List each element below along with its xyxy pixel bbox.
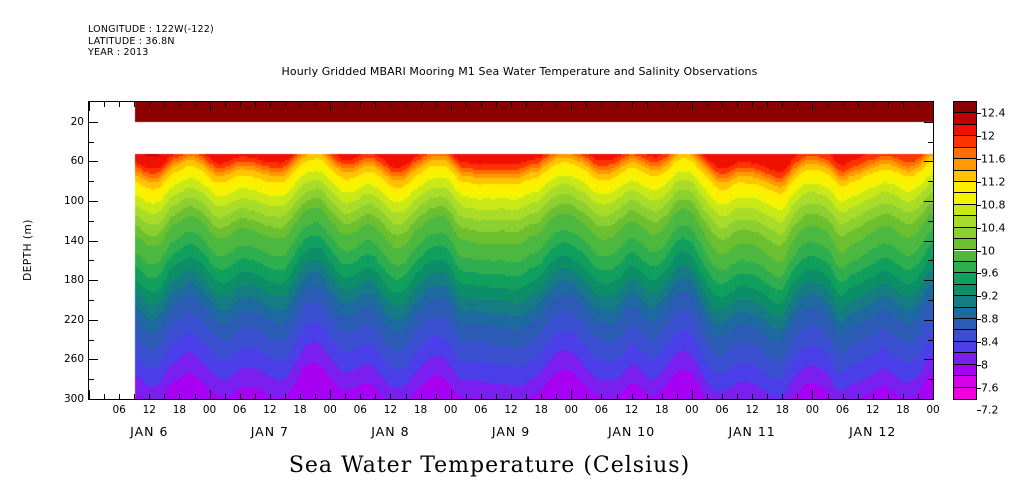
x-axis-day-label: JAN 10 — [608, 424, 655, 439]
x-axis-day-label: JAN 8 — [371, 424, 409, 439]
x-axis-tick-bottom — [767, 394, 768, 399]
colorbar-band — [954, 330, 976, 341]
x-axis-tick-top — [390, 102, 391, 107]
colorbar-band — [954, 239, 976, 250]
x-axis-tick-top — [707, 102, 708, 107]
x-axis-tick-bottom — [195, 394, 196, 399]
x-axis-hour-label: 18 — [414, 404, 427, 416]
x-axis-tick-bottom — [330, 390, 331, 399]
x-axis-hour-label: 06 — [354, 404, 367, 416]
colorbar-tick — [977, 113, 981, 114]
x-axis-tick-bottom — [722, 394, 723, 399]
colorbar-band — [954, 365, 976, 376]
colorbar-band — [954, 193, 976, 204]
x-axis-tick-bottom — [149, 394, 150, 399]
x-axis-tick-bottom — [828, 394, 829, 399]
x-axis-tick-top — [737, 102, 738, 107]
x-axis-tick-top — [692, 102, 693, 111]
colorbar-label: 11.2 — [981, 175, 1006, 188]
x-axis-hour-label: 18 — [896, 404, 909, 416]
x-axis-tick-bottom — [421, 394, 422, 399]
x-axis-tick-top — [496, 102, 497, 107]
y-axis-tick-left — [89, 399, 98, 400]
x-axis-tick-top — [556, 102, 557, 107]
year-text: YEAR : 2013 — [88, 47, 214, 59]
x-axis-hour-label: 12 — [384, 404, 397, 416]
colorbar-tick — [977, 410, 981, 411]
y-axis-tick-right — [924, 320, 933, 321]
y-axis-tick-right — [924, 122, 933, 123]
x-axis-tick-bottom — [662, 394, 663, 399]
x-axis-tick-bottom — [255, 394, 256, 399]
y-axis-tick-right — [928, 379, 933, 380]
x-axis-day-label: JAN 12 — [849, 424, 896, 439]
colorbar-label: 7.6 — [981, 381, 999, 394]
x-axis-hour-label: 00 — [565, 404, 578, 416]
x-axis-day-label: JAN 9 — [492, 424, 530, 439]
x-axis-tick-bottom — [119, 394, 120, 399]
x-axis-tick-top — [179, 102, 180, 107]
colorbar-label: 8.4 — [981, 335, 999, 348]
x-axis-tick-top — [134, 102, 135, 107]
colorbar-band — [954, 102, 976, 113]
x-axis-hour-label: 18 — [173, 404, 186, 416]
y-axis-tick-right — [924, 359, 933, 360]
colorbar-tick — [977, 251, 981, 252]
x-axis-tick-top — [225, 102, 226, 107]
x-axis-tick-top — [164, 102, 165, 107]
x-axis-tick-bottom — [179, 394, 180, 399]
colorbar-tick — [977, 296, 981, 297]
x-axis-day-label: JAN 6 — [130, 424, 168, 439]
y-axis-tick-right — [928, 260, 933, 261]
x-axis-tick-top — [375, 102, 376, 107]
colorbar-band — [954, 216, 976, 227]
colorbar-tick — [977, 388, 981, 389]
colorbar — [953, 101, 977, 400]
x-axis-hour-label: 00 — [806, 404, 819, 416]
colorbar-label: 10.8 — [981, 198, 1006, 211]
y-axis-tick-right — [928, 340, 933, 341]
x-axis-tick-bottom — [164, 394, 165, 399]
x-axis-tick-bottom — [526, 394, 527, 399]
colorbar-tick — [977, 319, 981, 320]
colorbar-label: 12 — [981, 130, 995, 143]
chart-title: Hourly Gridded MBARI Mooring M1 Sea Wate… — [0, 65, 1009, 78]
colorbar-band — [954, 376, 976, 387]
x-axis-tick-bottom — [707, 394, 708, 399]
y-axis-label: 20 — [71, 116, 84, 128]
x-axis-tick-bottom — [601, 394, 602, 399]
x-axis-tick-bottom — [240, 394, 241, 399]
x-axis-tick-bottom — [225, 394, 226, 399]
colorbar-label: 8 — [981, 358, 988, 371]
y-axis-tick-right — [924, 161, 933, 162]
y-axis-tick-right — [928, 300, 933, 301]
x-axis-tick-bottom — [481, 394, 482, 399]
x-axis-tick-top — [300, 102, 301, 107]
contour-plot-clip — [89, 102, 933, 399]
x-axis-tick-top — [360, 102, 361, 107]
y-axis-tick-right — [928, 142, 933, 143]
x-axis-tick-bottom — [571, 390, 572, 399]
x-axis-tick-bottom — [888, 394, 889, 399]
y-axis-label: 260 — [64, 353, 84, 365]
x-axis-hour-label: 06 — [233, 404, 246, 416]
x-axis-tick-top — [782, 102, 783, 107]
y-axis-label: 300 — [64, 393, 84, 405]
x-axis-hour-label: 18 — [776, 404, 789, 416]
x-axis-tick-bottom — [677, 394, 678, 399]
colorbar-band — [954, 388, 976, 399]
chart-title-text: Hourly Gridded MBARI Mooring M1 Sea Wate… — [252, 65, 758, 78]
x-axis-tick-top — [812, 102, 813, 111]
x-axis-tick-top — [240, 102, 241, 107]
y-axis-tick-left — [89, 280, 98, 281]
x-axis-hour-label: 12 — [745, 404, 758, 416]
x-axis-tick-bottom — [918, 394, 919, 399]
x-axis-hour-label: 06 — [474, 404, 487, 416]
colorbar-label: 8.8 — [981, 313, 999, 326]
colorbar-label: 9.2 — [981, 290, 999, 303]
x-axis-tick-top — [903, 102, 904, 107]
x-axis-tick-bottom — [270, 394, 271, 399]
colorbar-band — [954, 182, 976, 193]
colorbar-tick — [977, 159, 981, 160]
x-axis-tick-top — [255, 102, 256, 107]
x-axis-hour-label: 12 — [504, 404, 517, 416]
x-axis-hour-label: 00 — [926, 404, 939, 416]
x-axis-hour-label: 00 — [323, 404, 336, 416]
x-axis-hour-label: 00 — [203, 404, 216, 416]
y-axis-tick-left — [89, 241, 98, 242]
x-axis-tick-top — [210, 102, 211, 111]
y-axis-tick-left — [89, 359, 98, 360]
x-axis-tick-bottom — [617, 394, 618, 399]
x-axis-tick-top — [541, 102, 542, 107]
x-axis-tick-top — [526, 102, 527, 107]
y-axis-tick-left — [89, 161, 98, 162]
x-axis-hour-label: 12 — [625, 404, 638, 416]
x-axis-tick-top — [345, 102, 346, 107]
x-axis-tick-bottom — [873, 394, 874, 399]
y-axis-tick-left — [89, 221, 94, 222]
x-axis-tick-top — [647, 102, 648, 107]
x-axis-tick-top — [330, 102, 331, 111]
colorbar-band — [954, 319, 976, 330]
y-axis-title: DEPTH (m) — [22, 219, 34, 281]
colorbar-band — [954, 273, 976, 284]
metadata-block: LONGITUDE : 122W(-122) LATITUDE : 36.8N … — [88, 24, 214, 59]
x-axis-day-label: JAN 11 — [729, 424, 776, 439]
x-axis-tick-bottom — [692, 390, 693, 399]
x-axis-tick-bottom — [903, 394, 904, 399]
x-axis-tick-bottom — [541, 394, 542, 399]
x-axis-tick-bottom — [632, 394, 633, 399]
longitude-text: LONGITUDE : 122W(-122) — [88, 24, 214, 36]
x-axis-tick-top — [933, 102, 934, 111]
colorbar-band — [954, 342, 976, 353]
x-axis-tick-bottom — [647, 394, 648, 399]
x-axis-hour-label: 06 — [836, 404, 849, 416]
x-axis-hour-label: 12 — [263, 404, 276, 416]
colorbar-band — [954, 296, 976, 307]
x-axis-tick-bottom — [812, 390, 813, 399]
y-axis-tick-left — [89, 142, 94, 143]
x-axis-tick-bottom — [737, 394, 738, 399]
colorbar-band — [954, 228, 976, 239]
x-axis-tick-top — [406, 102, 407, 107]
x-axis-tick-top — [918, 102, 919, 107]
x-axis-hour-label: 06 — [595, 404, 608, 416]
colorbar-tick — [977, 342, 981, 343]
x-axis-tick-top — [149, 102, 150, 107]
x-axis-tick-bottom — [210, 390, 211, 399]
plot-area — [88, 101, 934, 400]
x-axis-tick-top — [466, 102, 467, 107]
x-axis-tick-bottom — [436, 394, 437, 399]
y-axis-tick-left — [89, 181, 94, 182]
y-axis-tick-left — [89, 122, 98, 123]
x-axis-day-label: JAN 7 — [251, 424, 289, 439]
x-axis-tick-bottom — [858, 394, 859, 399]
y-axis-tick-left — [89, 340, 94, 341]
x-axis-tick-top — [677, 102, 678, 107]
x-axis-tick-top — [797, 102, 798, 107]
bottom-axis-title: Sea Water Temperature (Celsius) — [0, 453, 1009, 478]
x-axis-tick-bottom — [104, 394, 105, 399]
temperature-contour-field — [89, 102, 933, 399]
x-axis-tick-top — [617, 102, 618, 107]
x-axis-tick-bottom — [496, 394, 497, 399]
y-axis-label: 140 — [64, 235, 84, 247]
colorbar-label: 7.2 — [981, 404, 999, 417]
colorbar-tick — [977, 365, 981, 366]
x-axis-tick-bottom — [406, 394, 407, 399]
colorbar-band — [954, 251, 976, 262]
colorbar-tick — [977, 136, 981, 137]
x-axis-tick-bottom — [556, 394, 557, 399]
x-axis-tick-top — [119, 102, 120, 107]
colorbar-band — [954, 205, 976, 216]
x-axis-tick-top — [315, 102, 316, 107]
y-axis-tick-right — [928, 221, 933, 222]
colorbar-label: 12.4 — [981, 107, 1006, 120]
y-axis-label: 180 — [64, 274, 84, 286]
y-axis-tick-left — [89, 320, 98, 321]
x-axis-tick-top — [586, 102, 587, 107]
x-axis-tick-top — [421, 102, 422, 107]
colorbar-band — [954, 148, 976, 159]
colorbar-label: 11.6 — [981, 153, 1006, 166]
x-axis-tick-bottom — [375, 394, 376, 399]
x-axis-tick-top — [89, 102, 90, 111]
colorbar-band — [954, 125, 976, 136]
colorbar-band — [954, 171, 976, 182]
x-axis-tick-top — [662, 102, 663, 107]
colorbar-tick — [977, 205, 981, 206]
y-axis-tick-right — [924, 280, 933, 281]
colorbar-band — [954, 308, 976, 319]
x-axis-tick-bottom — [782, 394, 783, 399]
colorbar-band — [954, 262, 976, 273]
x-axis-hour-label: 18 — [534, 404, 547, 416]
colorbar-band — [954, 159, 976, 170]
x-axis-tick-top — [722, 102, 723, 107]
x-axis-tick-top — [873, 102, 874, 107]
x-axis-hour-label: 18 — [655, 404, 668, 416]
x-axis-hour-label: 18 — [293, 404, 306, 416]
y-axis-tick-left — [89, 201, 98, 202]
x-axis-tick-bottom — [586, 394, 587, 399]
x-axis-tick-top — [888, 102, 889, 107]
x-axis-tick-bottom — [360, 394, 361, 399]
x-axis-tick-top — [511, 102, 512, 107]
colorbar-band — [954, 285, 976, 296]
colorbar-band — [954, 353, 976, 364]
x-axis-tick-top — [451, 102, 452, 111]
x-axis-tick-bottom — [933, 390, 934, 399]
colorbar-tick — [977, 228, 981, 229]
colorbar-band — [954, 136, 976, 147]
x-axis-tick-top — [632, 102, 633, 107]
x-axis-tick-bottom — [315, 394, 316, 399]
x-axis-tick-bottom — [390, 394, 391, 399]
x-axis-hour-label: 12 — [143, 404, 156, 416]
colorbar-label: 9.6 — [981, 267, 999, 280]
y-axis-tick-right — [928, 181, 933, 182]
x-axis-tick-top — [285, 102, 286, 107]
x-axis-tick-top — [601, 102, 602, 107]
colorbar-label: 10 — [981, 244, 995, 257]
latitude-text: LATITUDE : 36.8N — [88, 36, 214, 48]
colorbar-tick — [977, 182, 981, 183]
x-axis-tick-bottom — [511, 394, 512, 399]
x-axis-tick-bottom — [345, 394, 346, 399]
colorbar-label: 10.4 — [981, 221, 1006, 234]
x-axis-tick-bottom — [451, 390, 452, 399]
x-axis-hour-label: 00 — [685, 404, 698, 416]
x-axis-tick-bottom — [843, 394, 844, 399]
x-axis-tick-bottom — [285, 394, 286, 399]
x-axis-tick-bottom — [752, 394, 753, 399]
bottom-axis-title-text: Sea Water Temperature (Celsius) — [289, 453, 720, 478]
y-axis-label: 60 — [71, 155, 84, 167]
x-axis-tick-top — [104, 102, 105, 107]
y-axis-tick-left — [89, 260, 94, 261]
x-axis-tick-bottom — [797, 394, 798, 399]
x-axis-hour-label: 06 — [715, 404, 728, 416]
x-axis-tick-top — [436, 102, 437, 107]
x-axis-tick-top — [843, 102, 844, 107]
y-axis-label: 220 — [64, 314, 84, 326]
y-axis-tick-right — [924, 241, 933, 242]
y-axis-tick-left — [89, 300, 94, 301]
x-axis-hour-label: 12 — [866, 404, 879, 416]
x-axis-tick-bottom — [134, 394, 135, 399]
x-axis-tick-top — [270, 102, 271, 107]
x-axis-tick-top — [828, 102, 829, 107]
y-axis-tick-right — [924, 399, 933, 400]
colorbar-tick — [977, 273, 981, 274]
x-axis-tick-top — [195, 102, 196, 107]
x-axis-tick-top — [752, 102, 753, 107]
y-axis-tick-right — [924, 201, 933, 202]
x-axis-hour-label: 00 — [444, 404, 457, 416]
colorbar-band — [954, 113, 976, 124]
y-axis-tick-left — [89, 379, 94, 380]
x-axis-tick-bottom — [300, 394, 301, 399]
x-axis-hour-label: 06 — [112, 404, 125, 416]
x-axis-tick-top — [858, 102, 859, 107]
x-axis-tick-top — [481, 102, 482, 107]
x-axis-tick-top — [767, 102, 768, 107]
x-axis-tick-bottom — [89, 390, 90, 399]
y-axis-label: 100 — [64, 195, 84, 207]
x-axis-tick-top — [571, 102, 572, 111]
x-axis-tick-bottom — [466, 394, 467, 399]
